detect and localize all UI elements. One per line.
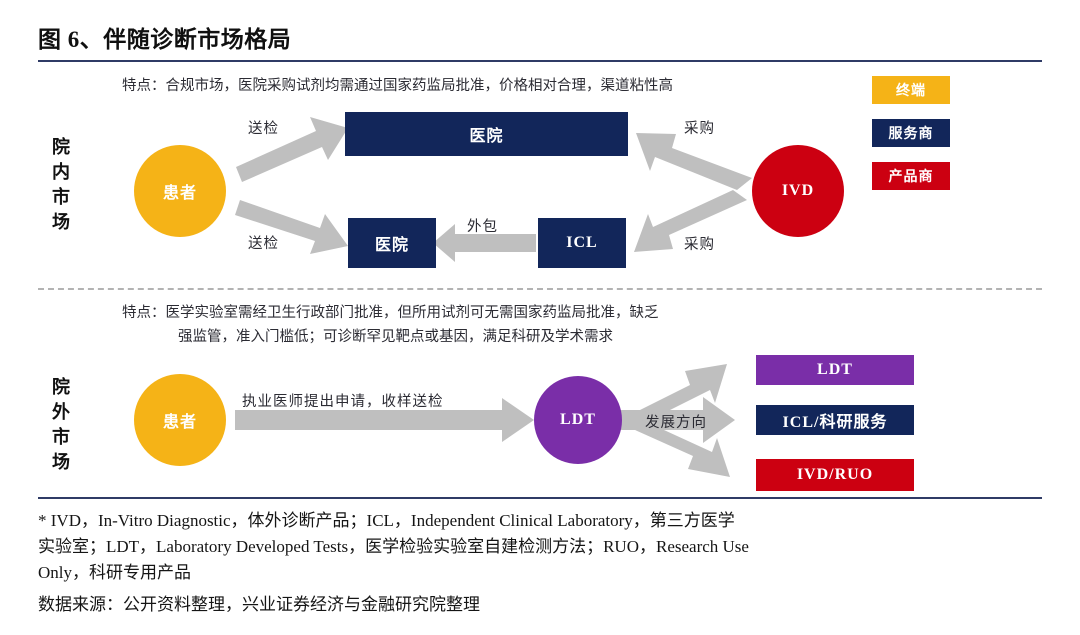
page-title: 图 6、伴随诊断市场格局 xyxy=(38,20,1042,60)
row-label-outside-char-3: 市 xyxy=(48,425,74,450)
node-icl[interactable]: ICL xyxy=(538,218,626,268)
section-divider xyxy=(38,288,1042,290)
legend-item-service-provider: 服务商 xyxy=(872,119,950,147)
arrow-label-procure-top: 采购 xyxy=(684,117,715,138)
inside-feature-text: 特点：合规市场，医院采购试剂均需通过国家药监局批准，价格相对合理，渠道粘性高 xyxy=(122,76,673,97)
row-label-inside-char-3: 市 xyxy=(48,185,74,210)
node-icl-label: ICL xyxy=(566,234,597,252)
legend-item-product-provider: 产品商 xyxy=(872,162,950,190)
row-label-outside-char-1: 院 xyxy=(48,375,74,400)
node-target-ivd-label: IVD/RUO xyxy=(797,466,873,484)
figure-title-bar: 图 6、伴随诊断市场格局 xyxy=(38,20,1042,62)
row-label-inside-market: 院 内 市 场 xyxy=(48,135,74,235)
node-hospital-bottom[interactable]: 医院 xyxy=(348,218,436,268)
legend-item-terminal: 终端 xyxy=(872,76,950,104)
legend-item-product-provider-label: 产品商 xyxy=(889,166,934,186)
node-hospital-bottom-label: 医院 xyxy=(375,231,409,255)
node-hospital-top[interactable]: 医院 xyxy=(345,112,628,156)
outside-feature-line-1: 特点：医学实验室需经卫生行政部门批准，但所用试剂可无需国家药监局批准，缺乏 xyxy=(122,303,659,324)
row-label-outside-char-4: 场 xyxy=(48,450,74,475)
arrow-label-outsource: 外包 xyxy=(467,215,498,236)
row-label-outside-market: 院 外 市 场 xyxy=(48,375,74,475)
legend-item-terminal-label: 终端 xyxy=(896,80,926,100)
outside-feature-line-2: 强监管，准入门槛低；可诊断罕见靶点或基因，满足科研及学术需求 xyxy=(178,327,613,348)
footnote-source: 数据来源：公开资料整理，兴业证券经济与金融研究院整理 xyxy=(38,592,1048,618)
arrow-ivd-to-hospital-top xyxy=(636,133,752,190)
node-target-ivd[interactable]: IVD/RUO xyxy=(756,459,914,491)
node-target-ldt-label: LDT xyxy=(817,361,853,379)
footer-divider xyxy=(38,497,1042,499)
arrow-label-request: 执业医师提出申请，收样送检 xyxy=(242,390,444,411)
arrow-label-send-top: 送检 xyxy=(248,117,279,138)
node-target-ldt[interactable]: LDT xyxy=(756,355,914,385)
node-patient-outside-label: 患者 xyxy=(163,408,197,432)
node-hospital-top-label: 医院 xyxy=(469,122,503,146)
legend-item-service-provider-label: 服务商 xyxy=(889,123,934,143)
row-label-inside-char-4: 场 xyxy=(48,210,74,235)
title-divider xyxy=(38,60,1042,62)
node-ldt-circle-label: LDT xyxy=(560,411,596,429)
row-label-outside-char-2: 外 xyxy=(48,400,74,425)
node-ivd[interactable]: IVD xyxy=(752,145,844,237)
arrow-label-direction: 发展方向 xyxy=(645,411,707,432)
node-ivd-label: IVD xyxy=(782,182,814,200)
node-patient-inside[interactable]: 患者 xyxy=(134,145,226,237)
node-patient-inside-label: 患者 xyxy=(163,179,197,203)
row-label-inside-char-2: 内 xyxy=(48,160,74,185)
node-target-icl[interactable]: ICL/科研服务 xyxy=(756,405,914,435)
node-patient-outside[interactable]: 患者 xyxy=(134,374,226,466)
figure-page: 图 6、伴随诊断市场格局 终端 服务商 产品商 特点：合规市场，医院采购试剂均需… xyxy=(0,0,1080,635)
arrow-label-procure-bottom: 采购 xyxy=(684,233,715,254)
node-ldt-circle[interactable]: LDT xyxy=(534,376,622,464)
node-target-icl-label: ICL/科研服务 xyxy=(783,408,888,432)
footnote-definitions: * IVD，In-Vitro Diagnostic，体外诊断产品；ICL，Ind… xyxy=(38,508,1048,586)
arrow-label-send-bottom: 送检 xyxy=(248,232,279,253)
row-label-inside-char-1: 院 xyxy=(48,135,74,160)
